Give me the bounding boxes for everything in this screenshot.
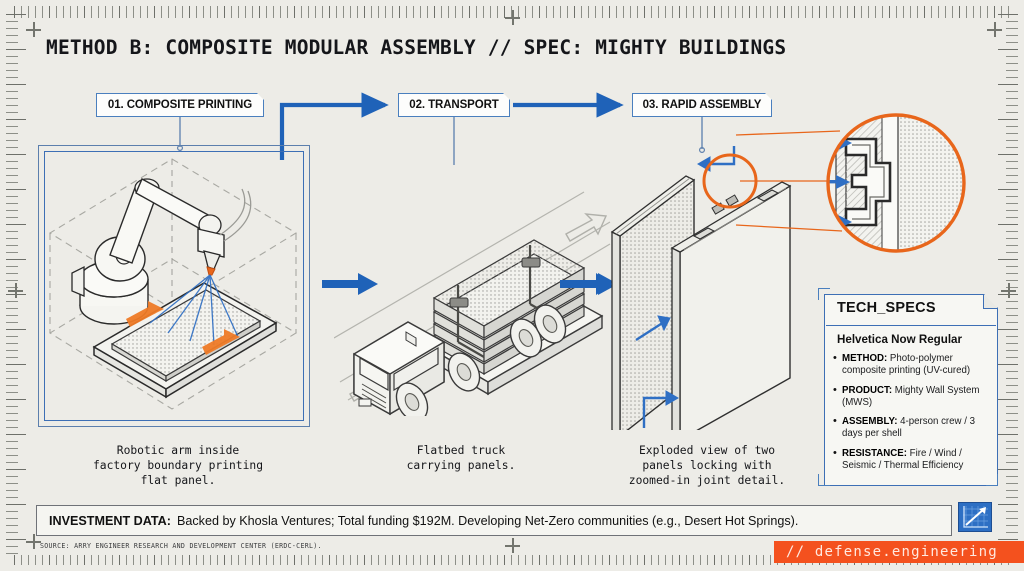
investment-text: Backed by Khosla Ventures; Total funding… (177, 514, 798, 528)
tech-specs-subtitle: Helvetica Now Regular (837, 333, 962, 346)
registration-mark-top-center (505, 10, 520, 25)
registration-mark-left-middle (8, 283, 23, 298)
corner-bracket-bottom-left (818, 474, 830, 486)
tech-spec-item: ASSEMBLY: 4-person crew / 3 days per she… (833, 416, 991, 441)
corner-bracket-bottom-right (986, 474, 998, 486)
assembly-inbound-arrow (586, 272, 616, 298)
joint-detail-magnifier (700, 105, 1000, 270)
robotic-arm-illustration (44, 151, 304, 421)
folded-corner-icon (983, 295, 997, 309)
source-note: SOURCE: ARRY ENGINEER RESEARCH AND DEVEL… (40, 542, 322, 550)
defense-engineering-banner: // defense.engineering (774, 541, 1024, 563)
caption-printing: Robotic arm inside factory boundary prin… (58, 443, 298, 488)
investment-data-bar: INVESTMENT DATA: Backed by Khosla Ventur… (36, 505, 952, 536)
tech-spec-item: METHOD: Photo-polymer composite printing… (833, 353, 991, 378)
flatbed-truck-illustration (334, 186, 614, 416)
tech-specs-panel: TECH_SPECS Helvetica Now Regular METHOD:… (818, 288, 998, 486)
blueprint-logo-icon (958, 502, 992, 532)
tech-specs-title: TECH_SPECS (837, 300, 936, 316)
tech-spec-item: RESISTANCE: Fire / Wind / Seismic / Ther… (833, 448, 991, 473)
registration-mark-bottom-center (505, 538, 520, 553)
ruler-top-major (14, 6, 1010, 18)
truck-inbound-arrow (322, 272, 382, 298)
registration-mark-bottom-left (26, 534, 41, 549)
tech-spec-label: ASSEMBLY: (842, 416, 897, 427)
tech-spec-label: RESISTANCE: (842, 448, 907, 459)
registration-mark-top-right (987, 22, 1002, 37)
caption-assembly: Exploded view of two panels locking with… (612, 443, 802, 488)
registration-mark-right-middle (1001, 283, 1016, 298)
ruler-top (14, 6, 1010, 18)
page-title: METHOD B: COMPOSITE MODULAR ASSEMBLY // … (46, 36, 786, 59)
tech-specs-list: METHOD: Photo-polymer composite printing… (833, 353, 991, 479)
blueprint-sheet: METHOD B: COMPOSITE MODULAR ASSEMBLY // … (0, 0, 1024, 571)
caption-transport: Flatbed truck carrying panels. (366, 443, 556, 473)
registration-mark-top-left (26, 22, 41, 37)
tech-spec-label: METHOD: (842, 353, 887, 364)
tech-specs-box: TECH_SPECS Helvetica Now Regular METHOD:… (824, 294, 998, 486)
tech-spec-item: PRODUCT: Mighty Wall System (MWS) (833, 385, 991, 410)
tech-spec-label: PRODUCT: (842, 385, 892, 396)
tech-specs-divider (826, 325, 996, 326)
corner-bracket-top-left (818, 288, 830, 300)
investment-label: INVESTMENT DATA: (49, 514, 171, 528)
